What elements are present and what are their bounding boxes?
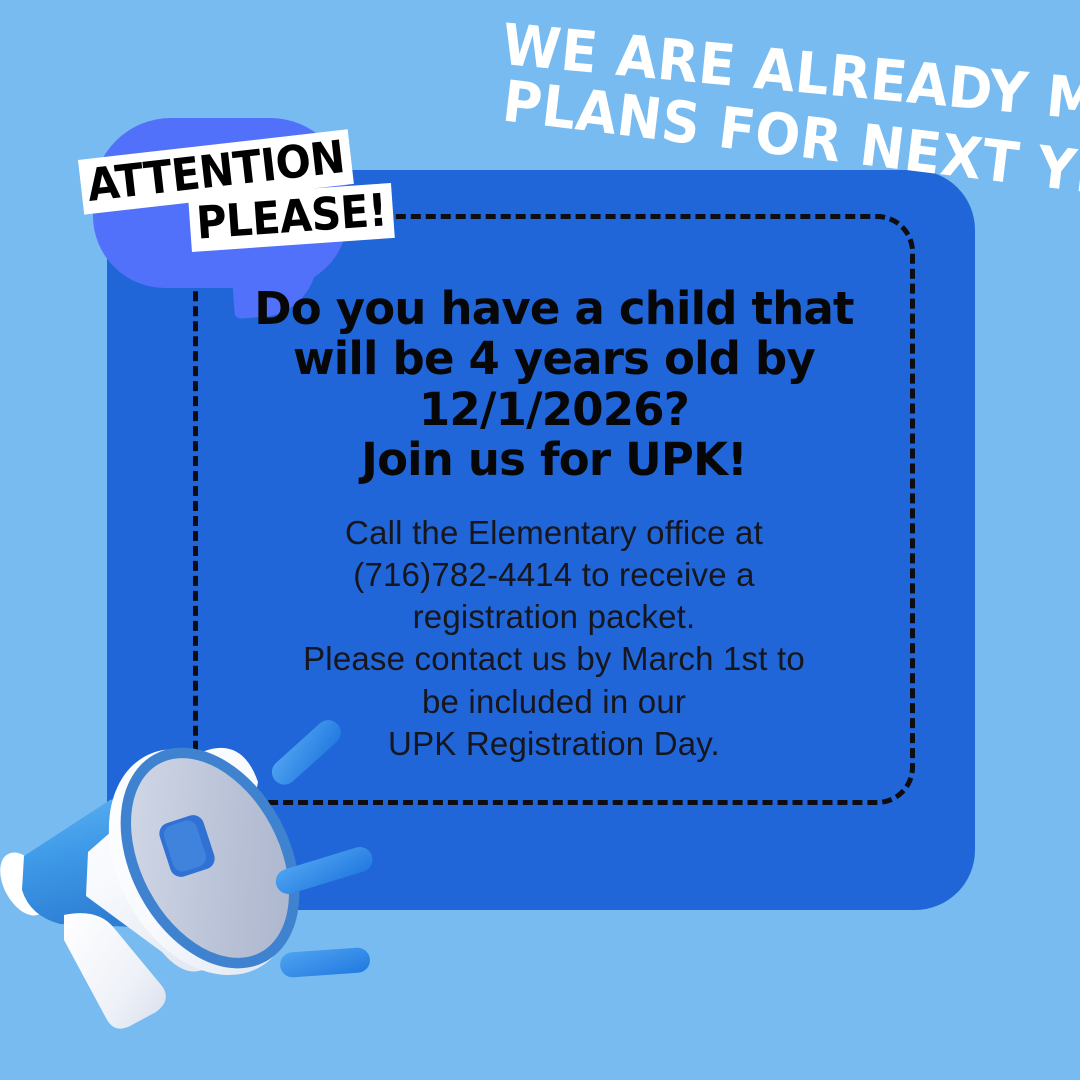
headline: Do you have a child that will be 4 years… — [233, 284, 875, 486]
headline-line-2: will be 4 years old by — [233, 334, 875, 384]
upk-registration-flyer: WE ARE ALREADY MAKING PLANS FOR NEXT YEA… — [0, 0, 1080, 1080]
megaphone-icon — [0, 700, 390, 1080]
body-line-4: Please contact us by March 1st to — [233, 638, 875, 680]
banner-line-1: WE ARE ALREADY MAKING — [500, 18, 1061, 126]
headline-line-3: 12/1/2026? — [233, 385, 875, 435]
megaphone-illustration — [0, 700, 390, 1080]
headline-line-1: Do you have a child that — [233, 284, 875, 334]
body-line-1: Call the Elementary office at — [233, 512, 875, 554]
headline-line-4: Join us for UPK! — [233, 435, 875, 485]
banner-headline: WE ARE ALREADY MAKING PLANS FOR NEXT YEA… — [494, 18, 1080, 186]
body-line-3: registration packet. — [233, 596, 875, 638]
body-line-2: (716)782-4414 to receive a — [233, 554, 875, 596]
